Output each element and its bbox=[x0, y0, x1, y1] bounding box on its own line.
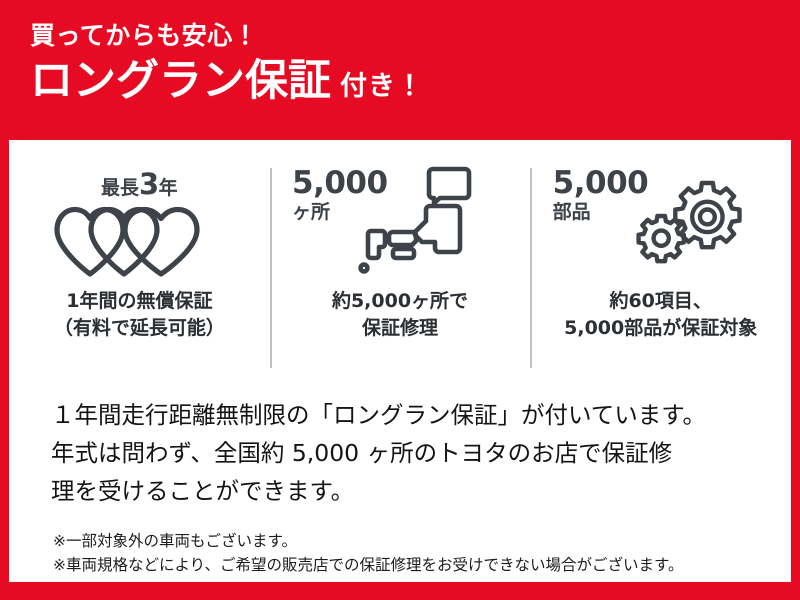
badge-max-period: 最長3年 bbox=[23, 170, 255, 199]
header-title-row: ロングラン保証 付き！ bbox=[30, 59, 800, 104]
body-line-3: 理を受けることができます。 bbox=[51, 472, 763, 510]
feature-service-locations: 5,000 ヶ所 bbox=[270, 162, 531, 374]
page-title: ロングラン保証 bbox=[30, 59, 331, 104]
caption-line-2: 保証修理 bbox=[332, 315, 468, 342]
badge-suffix: 年 bbox=[159, 177, 178, 199]
body-copy: １年間走行距離無制限の「ロングラン保証」が付いています。 年式は問わず、全国約 … bbox=[51, 396, 763, 510]
feature-covered-parts: 5,000 部品 bbox=[530, 162, 791, 374]
feature-figure: 最長3年 bbox=[23, 162, 255, 280]
feature-figure: 5,000 ヶ所 bbox=[284, 162, 516, 280]
banner-header: 買ってからも安心！ ロングラン保証 付き！ bbox=[0, 0, 800, 140]
badge-number: 3 bbox=[139, 167, 159, 201]
page-title-suffix: 付き！ bbox=[340, 64, 424, 103]
banner-body: 最長3年 1年間の無償保証 （有料で延長可能） bbox=[9, 140, 791, 582]
three-hearts-icon bbox=[51, 204, 227, 278]
longrun-warranty-banner: 買ってからも安心！ ロングラン保証 付き！ 最長3年 bbox=[0, 0, 800, 600]
badge-prefix: 最長 bbox=[101, 177, 139, 199]
japan-map-icon bbox=[358, 164, 478, 276]
footnote-1: ※一部対象外の車両もございます。 bbox=[53, 530, 773, 554]
feature-columns: 最長3年 1年間の無償保証 （有料で延長可能） bbox=[9, 162, 791, 374]
caption-line-1: 約5,000ヶ所で bbox=[332, 288, 468, 315]
feature-figure: 5,000 部品 bbox=[545, 162, 777, 280]
feature-warranty-period: 最長3年 1年間の無償保証 （有料で延長可能） bbox=[9, 162, 270, 374]
caption-line-1: 約60項目、 bbox=[564, 288, 757, 315]
body-line-2: 年式は問わず、全国約 5,000 ヶ所のトヨタのお店で保証修 bbox=[51, 434, 763, 472]
body-line-1: １年間走行距離無制限の「ロングラン保証」が付いています。 bbox=[51, 396, 763, 434]
feature-caption: 1年間の無償保証 （有料で延長可能） bbox=[54, 288, 225, 342]
feature-caption: 約60項目、 5,000部品が保証対象 bbox=[564, 288, 757, 342]
footnote-2: ※車両規格などにより、ご希望の販売店での保証修理をお受けできない場合がございます… bbox=[53, 554, 773, 578]
caption-line-1: 1年間の無償保証 bbox=[54, 288, 225, 315]
footnotes: ※一部対象外の車両もございます。 ※車両規格などにより、ご希望の販売店での保証修… bbox=[53, 530, 773, 577]
caption-line-2: （有料で延長可能） bbox=[54, 315, 225, 342]
gears-icon bbox=[629, 178, 759, 278]
caption-line-2: 5,000部品が保証対象 bbox=[564, 315, 757, 342]
feature-caption: 約5,000ヶ所で 保証修理 bbox=[332, 288, 468, 342]
header-kicker: 買ってからも安心！ bbox=[30, 22, 800, 50]
